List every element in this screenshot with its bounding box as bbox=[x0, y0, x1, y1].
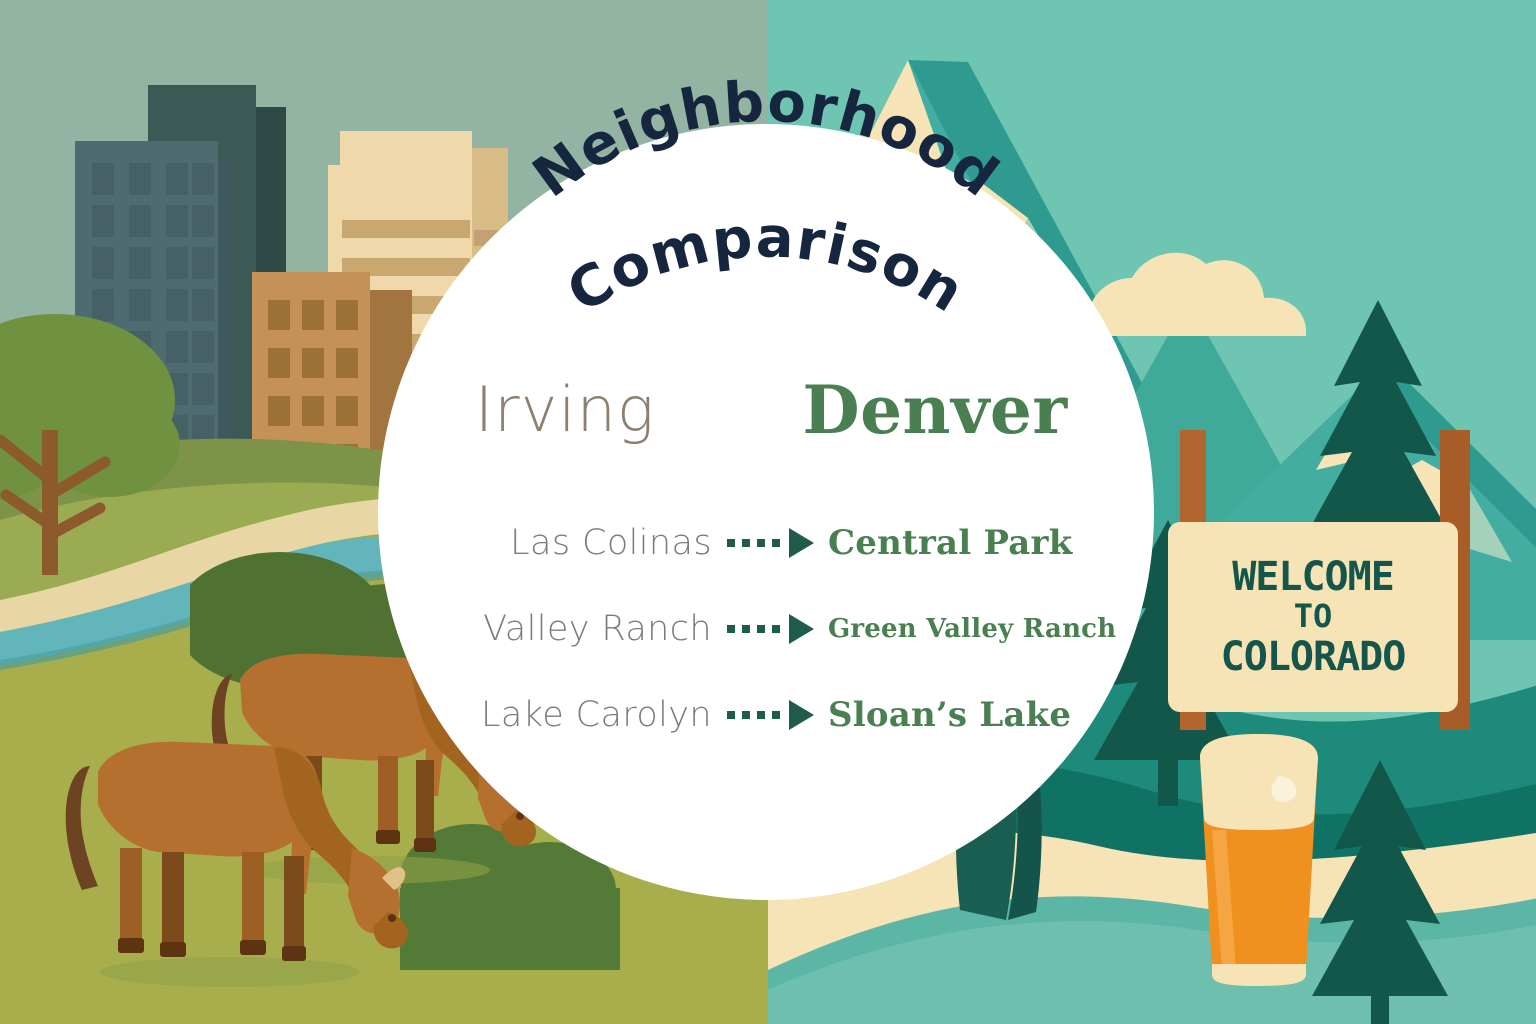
comparison-row: Las Colinas Central Park bbox=[400, 500, 1140, 586]
horse-front bbox=[40, 710, 460, 1010]
sign-board: WELCOME TO COLORADO bbox=[1168, 522, 1458, 712]
comparison-row: Valley Ranch Green Valley Ranch bbox=[400, 586, 1140, 672]
sign-line-3: COLORADO bbox=[1221, 636, 1406, 678]
dotted-arrow-right-icon bbox=[712, 614, 828, 644]
sign-line-2: TO bbox=[1294, 600, 1333, 634]
city-heading-row: Irving Denver bbox=[400, 360, 1140, 460]
infographic-canvas: WELCOME TO COLORADO Ne bbox=[0, 0, 1536, 1024]
beer-glass-icon bbox=[1178, 718, 1378, 998]
neighborhood-irving: Valley Ranch bbox=[400, 609, 712, 649]
city-right-label: Denver bbox=[730, 377, 1140, 443]
dotted-arrow-right-icon bbox=[712, 528, 828, 558]
neighborhood-denver: Central Park bbox=[828, 523, 1140, 563]
city-left-label: Irving bbox=[400, 379, 730, 441]
dotted-arrow-right-icon bbox=[712, 700, 828, 730]
comparison-list: Las Colinas Central Park Valley Ranch Gr… bbox=[400, 500, 1140, 758]
neighborhood-irving: Las Colinas bbox=[400, 523, 712, 563]
welcome-sign: WELCOME TO COLORADO bbox=[1168, 430, 1488, 730]
neighborhood-denver: Green Valley Ranch bbox=[828, 614, 1140, 644]
comparison-row: Lake Carolyn Sloan’s Lake bbox=[400, 672, 1140, 758]
neighborhood-irving: Lake Carolyn bbox=[400, 695, 712, 735]
sign-line-1: WELCOME bbox=[1232, 556, 1394, 598]
neighborhood-denver: Sloan’s Lake bbox=[828, 695, 1140, 735]
